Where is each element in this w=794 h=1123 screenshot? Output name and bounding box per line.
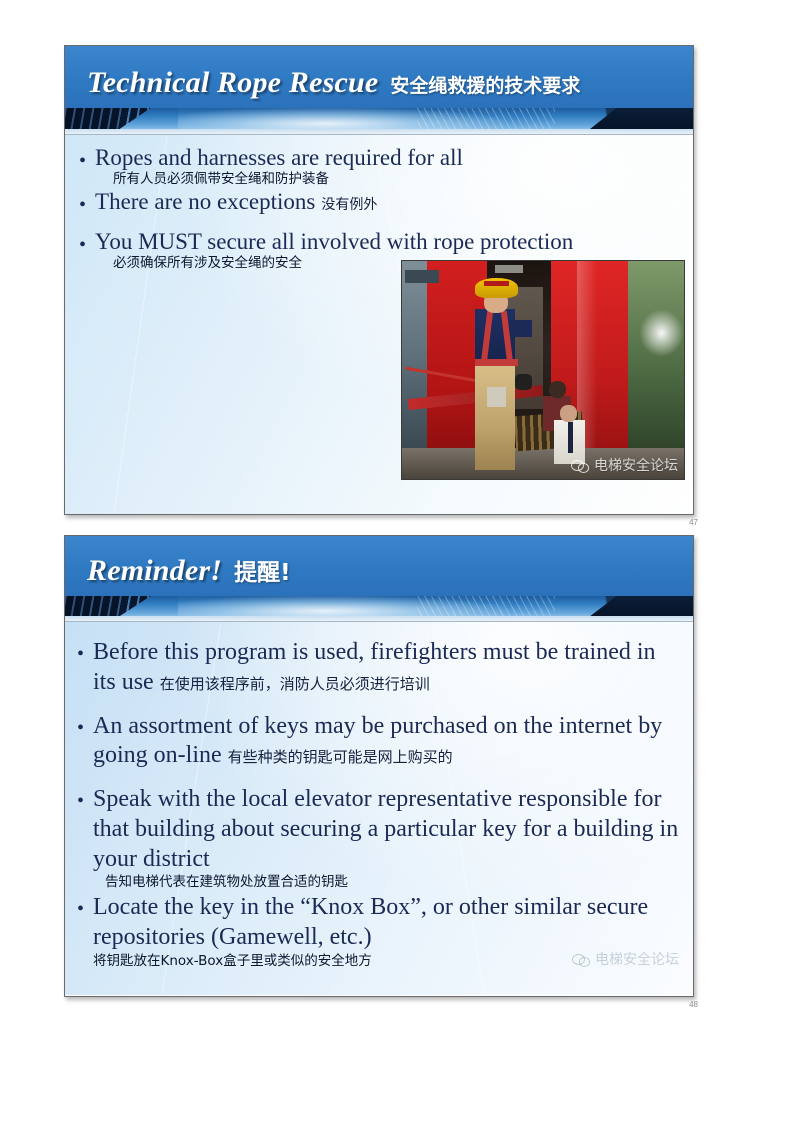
photo-firefighter-legs [475,361,514,470]
slide-title-chinese: 提醒! [234,553,291,587]
slide-technical-rope-rescue: Technical Rope Rescue 安全绳救援的技术要求 • [64,45,694,515]
bullet-english: Locate the key in the “Knox Box”, or oth… [93,894,648,950]
photo-light-glare [639,309,684,357]
bullet-item: • There are no exceptions没有例外 [79,189,679,215]
wechat-icon [571,458,588,472]
bullet-dot-icon: • [77,893,84,919]
bullet-text: Before this program is used, firefighter… [93,638,683,698]
slide-title: Technical Rope Rescue 安全绳救援的技术要求 [87,66,580,100]
bullet-english: Speak with the local elevator representa… [93,786,678,872]
bullet-english: Ropes and harnesses are required for all [95,145,463,170]
slide-frame: Technical Rope Rescue 安全绳救援的技术要求 • [64,45,694,515]
photo-vent [405,270,439,283]
slide-number: 48 [689,1000,698,1009]
bullet-text: Ropes and harnesses are required for all… [95,145,679,188]
photo-sign [495,265,523,273]
wechat-watermark-text: 电梯安全论坛 [594,455,678,475]
bullet-chinese: 告知电梯代表在建筑物处放置合适的钥匙 [105,874,683,891]
bullet-item: • Speak with the local elevator represen… [77,785,683,891]
bullet-dot-icon: • [77,712,84,738]
photo-green-wall [628,261,684,479]
bullet-english: There are no exceptions [95,189,315,214]
bullet-chinese: 所有人员必须佩带安全绳和防护装备 [113,171,679,188]
slide-title-english: Technical Rope Rescue [87,66,378,100]
bullet-english: You MUST secure all involved with rope p… [95,229,573,254]
bullet-dot-icon: • [79,189,86,215]
handout-page: Technical Rope Rescue 安全绳救援的技术要求 • [0,0,794,1123]
wechat-watermark-text: 电梯安全论坛 [595,949,679,969]
slide-frame: Reminder! 提醒! • Before this [64,535,694,997]
photo-person-tie [568,422,573,453]
slide-reminder: Reminder! 提醒! • Before this [64,535,694,997]
slide-title: Reminder! 提醒! [87,553,291,588]
photo-harness-belt [475,359,517,366]
slide-body: • Before this program is used, firefight… [65,621,693,995]
photo-helmet-stripe [484,281,509,286]
rescue-photo: 电梯安全论坛 [401,260,685,480]
skyline-decoration-band [65,108,693,134]
bullet-list: • Before this program is used, firefight… [65,622,693,970]
bullet-dot-icon: • [77,638,84,664]
bullet-item: • Ropes and harnesses are required for a… [79,145,679,188]
wechat-watermark: 电梯安全论坛 [572,949,679,969]
slide-header: Technical Rope Rescue 安全绳救援的技术要求 [65,46,693,108]
skyline-decoration-band [65,596,693,621]
bullet-text: There are no exceptions没有例外 [95,189,679,215]
photo-person-seated-head [549,381,566,398]
photo-gear-pouch [487,387,507,407]
slide-title-chinese: 安全绳救援的技术要求 [390,71,580,98]
wechat-watermark: 电梯安全论坛 [571,455,678,475]
bullet-chinese: 在使用该程序前，消防人员必须进行培训 [160,675,430,693]
bullet-chinese: 没有例外 [321,197,377,213]
bullet-dot-icon: • [79,229,86,255]
bullet-item: • Before this program is used, firefight… [77,638,683,698]
slide-body: • Ropes and harnesses are required for a… [65,134,693,514]
bullet-dot-icon: • [77,785,84,811]
photo-glove [515,374,532,389]
slide-header: Reminder! 提醒! [65,536,693,596]
photo-person-white-shirt-head [560,405,577,422]
bullet-text: An assortment of keys may be purchased o… [93,712,683,772]
bullet-chinese: 有些种类的钥匙可能是网上购买的 [228,748,453,766]
bullet-item: • An assortment of keys may be purchased… [77,712,683,772]
photo-firefighter-arm [509,320,532,337]
slide-title-english: Reminder! [87,554,222,588]
slide-number: 47 [689,518,698,527]
wechat-icon [572,952,589,966]
bullet-dot-icon: • [79,145,86,171]
bullet-text: Speak with the local elevator representa… [93,785,683,891]
bullet-list: • Ropes and harnesses are required for a… [65,135,693,272]
